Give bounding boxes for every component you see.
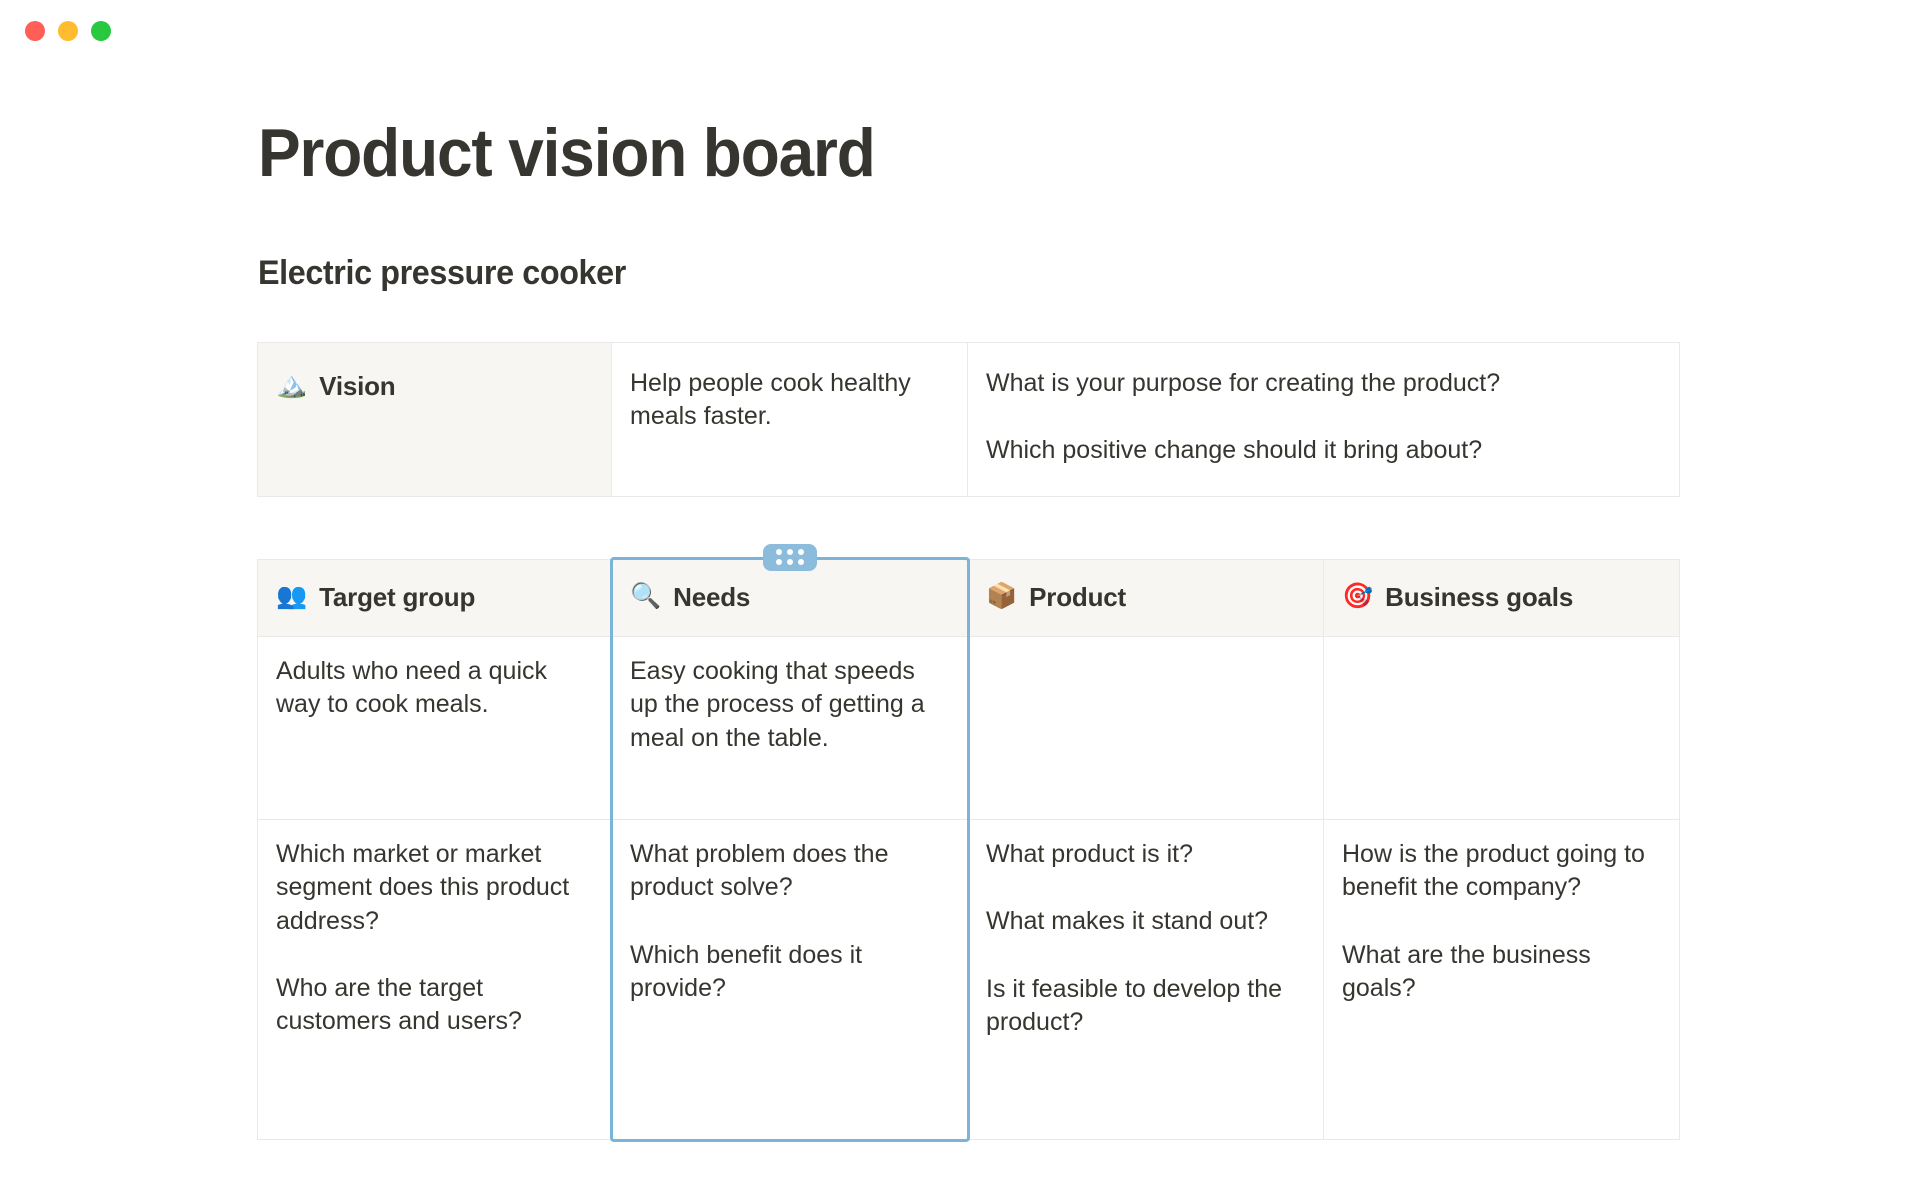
cell-business-goals-placeholder[interactable]: How is the product going to benefit the …: [1324, 820, 1680, 1140]
vision-placeholder-cell[interactable]: What is your purpose for creating the pr…: [968, 342, 1680, 497]
package-icon: 📦: [986, 584, 1017, 609]
target-icon: 🎯: [1342, 584, 1373, 609]
column-header-target-group[interactable]: 👥 Target group: [257, 559, 612, 638]
placeholder-line: What product is it?: [986, 838, 1305, 871]
vision-header-label: Vision: [319, 369, 395, 404]
column-header-business-goals[interactable]: 🎯 Business goals: [1324, 559, 1680, 638]
minimize-window-button[interactable]: [58, 21, 78, 41]
vision-board-table: 👥 Target group 🔍 Needs 📦 Product 🎯: [257, 559, 1680, 1141]
column-header-label: Target group: [319, 580, 475, 615]
cell-needs-placeholder[interactable]: What problem does the product solve? Whi…: [612, 820, 968, 1140]
page-title[interactable]: Product vision board: [258, 117, 1820, 190]
column-header-label: Product: [1029, 580, 1126, 615]
drag-handle-icon[interactable]: [763, 544, 817, 571]
close-window-button[interactable]: [25, 21, 45, 41]
cell-product-placeholder[interactable]: What product is it? What makes it stand …: [968, 820, 1324, 1140]
vision-table: 🏔️ Vision Help people cook healthy meals…: [257, 342, 1680, 497]
maximize-window-button[interactable]: [91, 21, 111, 41]
column-header-label: Needs: [673, 580, 750, 615]
vision-value-cell[interactable]: Help people cook healthy meals faster.: [612, 342, 968, 497]
placeholder-line: Is it feasible to develop the product?: [986, 973, 1305, 1040]
cell-business-goals-value[interactable]: [1324, 637, 1680, 820]
cell-target-group-placeholder[interactable]: Which market or market segment does this…: [257, 820, 612, 1140]
table-row: Adults who need a quick way to cook meal…: [257, 637, 1680, 820]
vision-header-cell[interactable]: 🏔️ Vision: [257, 342, 612, 497]
drag-handle-dots: [776, 549, 804, 565]
placeholder-line: What is your purpose for creating the pr…: [986, 367, 1661, 400]
column-header-product[interactable]: 📦 Product: [968, 559, 1324, 638]
column-header-label: Business goals: [1385, 580, 1573, 615]
placeholder-line: What are the business goals?: [1342, 939, 1661, 1006]
window-titlebar: [0, 0, 1920, 62]
table-row: 🏔️ Vision Help people cook healthy meals…: [257, 342, 1680, 497]
placeholder-line: What makes it stand out?: [986, 905, 1305, 938]
placeholder-line: Which benefit does it provide?: [630, 939, 949, 1006]
placeholder-line: Which market or market segment does this…: [276, 838, 593, 938]
magnifying-glass-icon: 🔍: [630, 584, 661, 609]
cell-product-value[interactable]: [968, 637, 1324, 820]
placeholder-line: Who are the target customers and users?: [276, 972, 593, 1039]
mountain-icon: 🏔️: [276, 373, 307, 398]
cell-needs-value[interactable]: Easy cooking that speeds up the process …: [612, 637, 968, 820]
table-row: Which market or market segment does this…: [257, 820, 1680, 1140]
page-subtitle[interactable]: Electric pressure cooker: [258, 254, 1837, 293]
placeholder-line: Which positive change should it bring ab…: [986, 434, 1661, 467]
table-header-row: 👥 Target group 🔍 Needs 📦 Product 🎯: [257, 559, 1680, 638]
busts-in-silhouette-icon: 👥: [276, 584, 307, 609]
placeholder-line: How is the product going to benefit the …: [1342, 838, 1661, 905]
cell-target-group-value[interactable]: Adults who need a quick way to cook meal…: [257, 637, 612, 820]
placeholder-line: What problem does the product solve?: [630, 838, 949, 905]
document-body: Product vision board Electric pressure c…: [0, 62, 1920, 1140]
